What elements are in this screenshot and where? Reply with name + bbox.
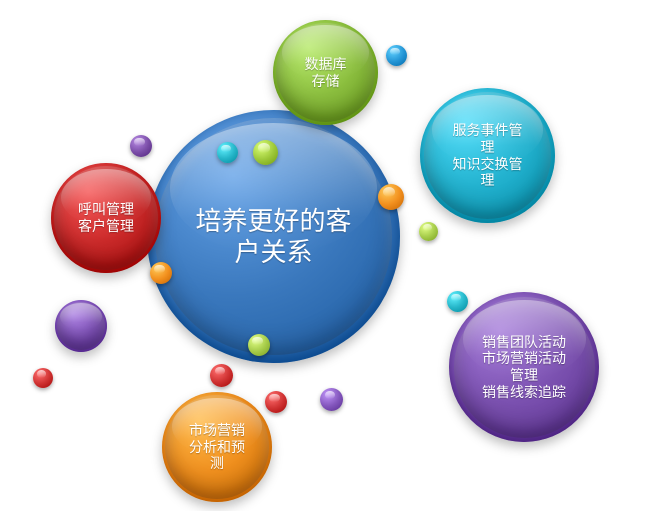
dot-red-bottom-left	[33, 368, 53, 388]
dot-teal-inner-top	[217, 142, 238, 163]
diagram-canvas: 培养更好的客 户关系数据库 存储服务事件管 理 知识交换管 理呼叫管理 客户管理…	[0, 0, 657, 511]
database-storage-bubble-label: 数据库 存储	[299, 56, 353, 89]
dot-orange-right-edge	[378, 184, 404, 210]
dot-purple-bottom	[320, 388, 343, 411]
marketing-analysis-bubble-label: 市场营销 分析和预 测	[183, 422, 251, 472]
sales-marketing-bubble[interactable]: 销售团队活动 市场营销活动 管理 销售线索追踪	[449, 292, 599, 442]
sales-marketing-bubble-label: 销售团队活动 市场营销活动 管理 销售线索追踪	[476, 334, 572, 400]
dot-red-inner-bottom	[210, 364, 233, 387]
dot-red-below-center	[265, 391, 287, 413]
database-storage-bubble[interactable]: 数据库 存储	[273, 20, 378, 125]
center-bubble-label: 培养更好的客 户关系	[189, 206, 357, 267]
dot-orange-inner-left	[150, 262, 172, 284]
call-customer-management-bubble-label: 呼叫管理 客户管理	[72, 201, 140, 234]
dot-green-inner-bottom	[248, 334, 270, 356]
marketing-analysis-bubble[interactable]: 市场营销 分析和预 测	[162, 392, 272, 502]
service-knowledge-bubble[interactable]: 服务事件管 理 知识交换管 理	[420, 88, 555, 223]
dot-green-inner-top	[253, 140, 278, 165]
dot-purple-top-left	[130, 135, 152, 157]
call-customer-management-bubble[interactable]: 呼叫管理 客户管理	[51, 163, 161, 273]
dot-blue-top-right	[386, 45, 407, 66]
dot-teal-purple-corner	[447, 291, 468, 312]
dot-green-right	[419, 222, 438, 241]
service-knowledge-bubble-label: 服务事件管 理 知识交换管 理	[447, 122, 529, 188]
accent-bubble-purple-left	[55, 300, 107, 352]
